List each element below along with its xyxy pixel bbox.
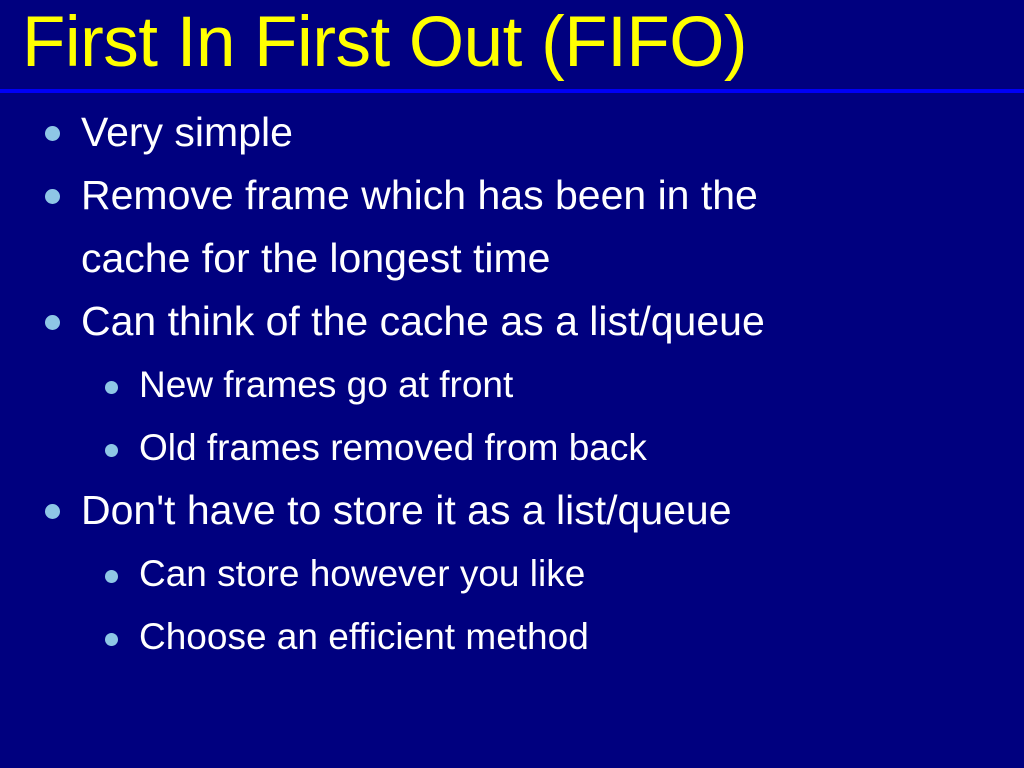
bullet-dot-icon [105, 381, 118, 394]
list-item: Choose an efficient method [0, 605, 1024, 668]
list-item: Don't have to store it as a list/queue [0, 479, 1024, 542]
presentation-slide: First In First Out (FIFO) Very simpleRem… [0, 0, 1024, 768]
list-item-label: Choose an efficient method [139, 605, 589, 668]
slide-body-list: Very simpleRemove frame which has been i… [0, 101, 1024, 768]
list-item-label: Very simple [81, 101, 293, 164]
slide-title-area: First In First Out (FIFO) [0, 0, 1024, 90]
list-item-label: Old frames removed from back [139, 416, 647, 479]
bullet-dot-icon [105, 444, 118, 457]
list-item: Remove frame which has been in the [0, 164, 1024, 227]
list-item-label: Remove frame which has been in the [81, 164, 758, 227]
list-item: New frames go at front [0, 353, 1024, 416]
list-item: Can think of the cache as a list/queue [0, 290, 1024, 353]
bullet-dot-icon [45, 189, 60, 204]
list-item-label: Can store however you like [139, 542, 585, 605]
list-item-continuation: cache for the longest time [0, 227, 1024, 290]
list-item-label: Don't have to store it as a list/queue [81, 479, 732, 542]
bullet-dot-icon [45, 315, 60, 330]
bullet-dot-icon [45, 504, 60, 519]
bullet-dot-icon [45, 126, 60, 141]
page-title: First In First Out (FIFO) [22, 0, 747, 88]
list-item: Can store however you like [0, 542, 1024, 605]
list-item-label: Can think of the cache as a list/queue [81, 290, 765, 353]
list-item-label: New frames go at front [139, 353, 513, 416]
title-divider-rule [0, 89, 1024, 93]
list-item: Old frames removed from back [0, 416, 1024, 479]
list-item-label: cache for the longest time [81, 227, 550, 290]
bullet-dot-icon [105, 570, 118, 583]
bullet-dot-icon [105, 633, 118, 646]
list-item: Very simple [0, 101, 1024, 164]
